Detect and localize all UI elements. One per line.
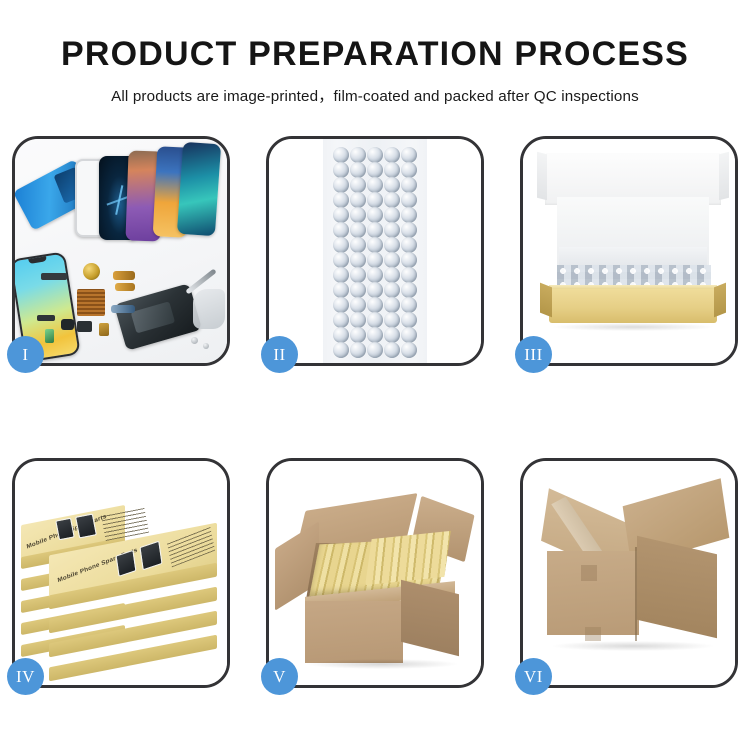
part-speaker-coil <box>83 263 100 280</box>
step-badge-5: V <box>261 658 298 695</box>
bubble <box>401 297 417 313</box>
bubble <box>350 342 366 358</box>
carton-front-panel <box>305 601 403 663</box>
box-art-phone-1 <box>116 550 137 577</box>
bubble <box>401 282 417 298</box>
sealed-carton-tab-upper <box>581 565 597 581</box>
bubble <box>401 312 417 328</box>
step-badge-2: II <box>261 336 298 373</box>
bubble <box>333 192 349 208</box>
bubble <box>350 252 366 268</box>
bubble <box>333 237 349 253</box>
bubble <box>350 222 366 238</box>
step-2-image <box>269 139 481 363</box>
bubble <box>367 147 383 163</box>
step-panel-5: V <box>266 458 484 688</box>
part-speaker-module <box>77 321 92 332</box>
bubble <box>333 207 349 223</box>
bubble <box>367 252 383 268</box>
bubble <box>367 267 383 283</box>
bubble <box>333 222 349 238</box>
bubble <box>333 147 349 163</box>
bubble <box>401 222 417 238</box>
step-badge-1: I <box>7 336 44 373</box>
bubble <box>350 192 366 208</box>
bubble <box>367 327 383 343</box>
bubble <box>350 207 366 223</box>
sealed-carton-shadow <box>553 641 713 651</box>
bubble <box>384 237 400 253</box>
box-spec-lines <box>167 526 215 567</box>
box-art-phone-2 <box>139 541 162 571</box>
bubble <box>384 222 400 238</box>
page-title: PRODUCT PREPARATION PROCESS <box>0 36 750 73</box>
step-badge-6: VI <box>515 658 552 695</box>
bubble <box>367 207 383 223</box>
bubble <box>401 207 417 223</box>
carton-right-panel <box>401 580 459 656</box>
step-3-image <box>523 139 735 363</box>
carton-contents-boxes-upper <box>365 531 451 585</box>
step-panel-1: I <box>12 136 230 366</box>
step-1-image <box>15 139 227 363</box>
bubble <box>384 192 400 208</box>
bubble <box>350 312 366 328</box>
part-copper-grid <box>77 289 105 316</box>
bubble <box>384 327 400 343</box>
part-screw-1 <box>191 337 198 344</box>
bubble <box>350 162 366 178</box>
step-badge-3: III <box>515 336 552 373</box>
bubble <box>384 282 400 298</box>
bubble <box>333 327 349 343</box>
bubble <box>350 282 366 298</box>
product-preparation-infographic: PRODUCT PREPARATION PROCESS All products… <box>0 0 750 750</box>
bubble <box>384 177 400 193</box>
step-panel-2: II <box>266 136 484 366</box>
step-panel-3: III <box>520 136 738 366</box>
bubble <box>401 192 417 208</box>
bubble <box>367 237 383 253</box>
box-art-phone-4 <box>75 513 97 538</box>
process-steps-grid: I II III <box>12 136 738 688</box>
bubble <box>333 162 349 178</box>
header: PRODUCT PREPARATION PROCESS All products… <box>0 0 750 106</box>
bubble <box>333 177 349 193</box>
sealed-carton-edge <box>635 547 637 641</box>
bubble-wrap-bubbles <box>332 147 418 361</box>
bubble <box>350 267 366 283</box>
bubble <box>384 267 400 283</box>
technician-hand <box>193 289 225 329</box>
part-chip <box>45 329 54 343</box>
part-flex-cable-1 <box>41 273 67 280</box>
bubble <box>401 162 417 178</box>
part-flex-cable-4 <box>111 305 135 313</box>
bubble <box>350 237 366 253</box>
part-flex-cable-3 <box>115 283 135 291</box>
part-flex-cable-2 <box>113 271 135 280</box>
bubble <box>401 327 417 343</box>
bubble <box>401 177 417 193</box>
bubble <box>401 147 417 163</box>
bubble <box>333 267 349 283</box>
bubble <box>333 282 349 298</box>
bubble <box>384 297 400 313</box>
bubble <box>367 192 383 208</box>
bubble <box>367 162 383 178</box>
inner-box-front-panel <box>549 289 717 323</box>
part-camera-module <box>61 319 74 330</box>
bubble <box>350 297 366 313</box>
phone-screen-teal <box>177 142 221 236</box>
bubble <box>333 342 349 358</box>
sealed-carton-side-panel <box>637 536 717 638</box>
bubble <box>401 237 417 253</box>
bubble <box>367 222 383 238</box>
part-strip <box>37 315 55 321</box>
step-6-image <box>523 461 735 685</box>
bubble <box>384 207 400 223</box>
bubble <box>367 297 383 313</box>
bubble <box>367 342 383 358</box>
bubble <box>384 312 400 328</box>
bubble <box>333 252 349 268</box>
bubble <box>384 147 400 163</box>
inner-box-shadow <box>553 323 713 331</box>
bubble <box>367 282 383 298</box>
step-panel-4: Mobile Phone Spare Parts Mobile Phone Sp… <box>12 458 230 688</box>
bubble <box>333 297 349 313</box>
bubble <box>350 177 366 193</box>
bubble <box>401 342 417 358</box>
bubble <box>384 252 400 268</box>
box-stack: Mobile Phone Spare Parts Mobile Phone Sp… <box>19 483 227 679</box>
sealed-carton-front-panel <box>547 551 639 635</box>
bubble <box>333 312 349 328</box>
step-panel-6: VI <box>520 458 738 688</box>
step-4-image: Mobile Phone Spare Parts Mobile Phone Sp… <box>15 461 227 685</box>
part-screw-2 <box>203 343 209 349</box>
bubble <box>367 177 383 193</box>
bubble <box>384 342 400 358</box>
step-badge-4: IV <box>7 658 44 695</box>
sealed-carton-tab-lower <box>585 627 601 641</box>
step-5-image <box>269 461 481 685</box>
bubble <box>401 252 417 268</box>
part-button-assembly <box>99 323 109 336</box>
bubble <box>350 327 366 343</box>
bubble <box>350 147 366 163</box>
carton-shadow <box>307 659 457 669</box>
bubble <box>384 162 400 178</box>
page-subtitle: All products are image-printed，film-coat… <box>0 84 750 106</box>
bubble <box>401 267 417 283</box>
bubble <box>367 312 383 328</box>
